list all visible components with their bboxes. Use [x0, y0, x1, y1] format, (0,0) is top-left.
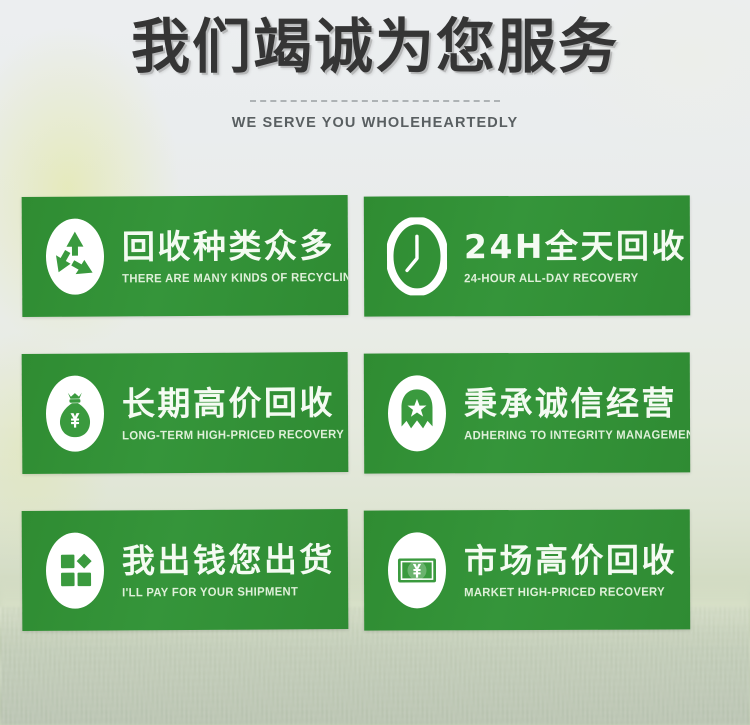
service-card-subtitle: ADHERING TO INTEGRITY MANAGEMENT — [464, 428, 690, 441]
service-card-title: 24H全天回收 — [464, 230, 687, 265]
service-card-text: 我出钱您出货 I'LL PAY FOR YOUR SHIPMENT — [122, 541, 335, 598]
title-divider — [250, 100, 500, 102]
service-card-text: 回收种类众多 THERE ARE MANY KINDS OF RECYCLING — [122, 227, 349, 284]
service-card-title: 秉承诚信经营 — [464, 387, 690, 423]
service-card-text: 长期高价回收 LONG-TERM HIGH-PRICED RECOVERY — [122, 384, 349, 441]
page-title: 我们竭诚为您服务 — [0, 17, 750, 76]
blocks-icon — [44, 530, 106, 610]
page-subtitle: WE SERVE YOU WHOLEHEARTEDLY — [0, 115, 750, 131]
service-card-title: 市场高价回收 — [464, 544, 678, 579]
service-card-24h[interactable]: 24H全天回收 24-HOUR ALL-DAY RECOVERY — [364, 195, 690, 316]
recycle-icon — [44, 216, 106, 296]
service-card-title: 回收种类众多 — [122, 229, 349, 265]
service-card-subtitle: I'LL PAY FOR YOUR SHIPMENT — [122, 585, 322, 598]
service-card-title: 长期高价回收 — [122, 386, 349, 422]
service-card-grid: 回收种类众多 THERE ARE MANY KINDS OF RECYCLING… — [22, 196, 690, 630]
service-card-subtitle: MARKET HIGH-PRICED RECOVERY — [464, 585, 665, 598]
service-card-subtitle: THERE ARE MANY KINDS OF RECYCLING — [122, 271, 348, 284]
medal-icon — [386, 373, 448, 453]
service-card-text: 秉承诚信经营 ADHERING TO INTEGRITY MANAGEMENT — [464, 385, 690, 442]
service-card-text: 市场高价回收 MARKET HIGH-PRICED RECOVERY — [464, 542, 678, 598]
promotional-poster: 我们竭诚为您服务 WE SERVE YOU WHOLEHEARTEDLY 回收种… — [0, 0, 750, 725]
service-card-subtitle: 24-HOUR ALL-DAY RECOVERY — [464, 271, 674, 284]
service-card-long-term-price[interactable]: 长期高价回收 LONG-TERM HIGH-PRICED RECOVERY — [22, 352, 349, 474]
service-card-text: 24H全天回收 24-HOUR ALL-DAY RECOVERY — [464, 228, 687, 284]
service-card-subtitle: LONG-TERM HIGH-PRICED RECOVERY — [122, 428, 344, 441]
service-card-integrity[interactable]: 秉承诚信经营 ADHERING TO INTEGRITY MANAGEMENT — [364, 352, 690, 473]
banknote-icon — [386, 530, 448, 610]
money-bag-icon — [44, 373, 106, 453]
service-card-pay-shipment[interactable]: 我出钱您出货 I'LL PAY FOR YOUR SHIPMENT — [22, 509, 349, 631]
poster-header: 我们竭诚为您服务 WE SERVE YOU WHOLEHEARTEDLY — [0, 0, 750, 131]
clock-icon — [386, 216, 448, 296]
service-card-recycling[interactable]: 回收种类众多 THERE ARE MANY KINDS OF RECYCLING — [22, 195, 349, 317]
service-card-market-price[interactable]: 市场高价回收 MARKET HIGH-PRICED RECOVERY — [364, 509, 690, 630]
service-card-title: 我出钱您出货 — [122, 543, 335, 579]
